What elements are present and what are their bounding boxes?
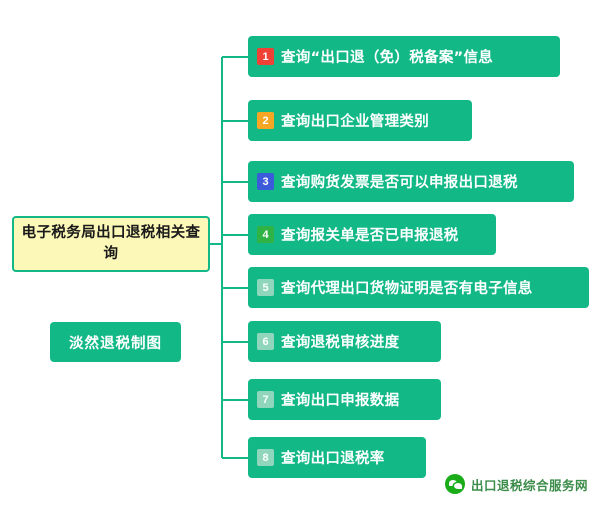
- branch-badge-3: 3: [257, 173, 274, 190]
- branch-item-4[interactable]: 4 查询报关单是否已申报退税: [248, 214, 496, 255]
- watermark-text: 出口退税综合服务网: [471, 475, 588, 494]
- watermark: 出口退税综合服务网: [445, 474, 588, 494]
- branch-label-3: 查询购货发票是否可以申报出口退税: [281, 171, 518, 192]
- mindmap-canvas: 电子税务局出口退税相关查询 淡然退税制图 1 查询“出口退（免）税备案”信息 2…: [0, 0, 600, 506]
- branch-label-5: 查询代理出口货物证明是否有电子信息: [281, 277, 533, 298]
- branch-badge-2: 2: [257, 112, 274, 129]
- branch-badge-8: 8: [257, 449, 274, 466]
- branch-label-8: 查询出口退税率: [281, 447, 385, 468]
- branch-label-4: 查询报关单是否已申报退税: [281, 224, 459, 245]
- branch-badge-6: 6: [257, 333, 274, 350]
- branch-item-2[interactable]: 2 查询出口企业管理类别: [248, 100, 472, 141]
- branch-item-7[interactable]: 7 查询出口申报数据: [248, 379, 441, 420]
- branch-badge-1: 1: [257, 48, 274, 65]
- branch-item-3[interactable]: 3 查询购货发票是否可以申报出口退税: [248, 161, 574, 202]
- branch-label-7: 查询出口申报数据: [281, 389, 399, 410]
- branch-badge-4: 4: [257, 226, 274, 243]
- mindmap-root-node[interactable]: 电子税务局出口退税相关查询: [12, 216, 210, 272]
- branch-badge-7: 7: [257, 391, 274, 408]
- branch-label-6: 查询退税审核进度: [281, 331, 399, 352]
- mindmap-note-node[interactable]: 淡然退税制图: [50, 322, 181, 362]
- branch-label-2: 查询出口企业管理类别: [281, 110, 429, 131]
- mindmap-note-label: 淡然退税制图: [69, 332, 162, 353]
- branch-item-8[interactable]: 8 查询出口退税率: [248, 437, 426, 478]
- wechat-icon: [445, 474, 465, 494]
- branch-item-1[interactable]: 1 查询“出口退（免）税备案”信息: [248, 36, 560, 77]
- branch-item-5[interactable]: 5 查询代理出口货物证明是否有电子信息: [248, 267, 589, 308]
- branch-label-1: 查询“出口退（免）税备案”信息: [281, 46, 493, 67]
- branch-item-6[interactable]: 6 查询退税审核进度: [248, 321, 441, 362]
- mindmap-root-label: 电子税务局出口退税相关查询: [20, 223, 202, 265]
- branch-badge-5: 5: [257, 279, 274, 296]
